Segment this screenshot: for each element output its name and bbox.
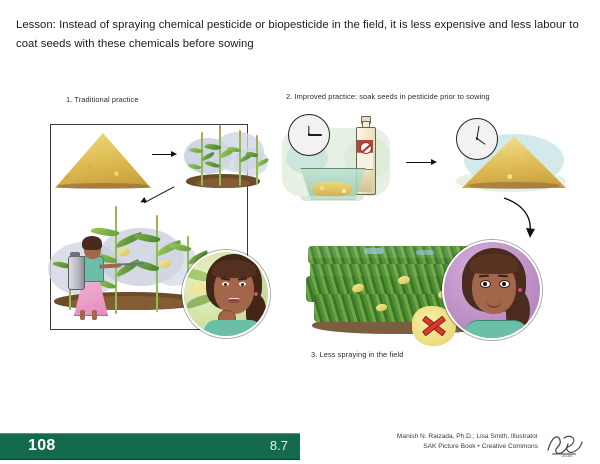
arrow-coated-to-field bbox=[500, 196, 548, 242]
panel-2-caption: 2. Improved practice: soak seeds in pest… bbox=[286, 92, 490, 101]
soaking-scene bbox=[282, 112, 402, 204]
coated-seed-pile bbox=[440, 118, 576, 204]
clock-done-icon bbox=[456, 118, 498, 160]
credits-block: Manish N. Raizada, Ph.D.; Lisa Smith, Il… bbox=[338, 432, 538, 452]
soaking-basin bbox=[296, 168, 368, 202]
happy-woman-portrait bbox=[442, 240, 542, 340]
illustrator-signature-icon: 2016 bbox=[542, 430, 592, 458]
svg-text:2016: 2016 bbox=[562, 453, 573, 458]
arrow-soak-to-coated bbox=[406, 158, 442, 168]
maize-field-traditional bbox=[178, 124, 270, 196]
lesson-text: Lesson: Instead of spraying chemical pes… bbox=[16, 16, 588, 54]
page-number: 108 bbox=[28, 437, 56, 455]
panel-3-caption: 3. Less spraying in the field bbox=[311, 350, 403, 359]
seed-pile-traditional bbox=[55, 133, 151, 188]
clock-soak-icon bbox=[288, 114, 330, 156]
panel-1-caption: 1. Traditional practice bbox=[66, 95, 139, 104]
no-spray-icon bbox=[360, 142, 372, 154]
footer-bar: 108 8.7 bbox=[0, 433, 300, 460]
credits-line-2: SAK Picture Book • Creative Commons bbox=[338, 442, 538, 452]
worried-woman-portrait bbox=[182, 250, 270, 338]
section-number: 8.7 bbox=[270, 438, 288, 453]
farmer-with-sprayer bbox=[66, 234, 128, 312]
credits-line-1: Manish N. Raizada, Ph.D.; Lisa Smith, Il… bbox=[338, 432, 538, 442]
arrow-pile-to-field bbox=[152, 150, 180, 160]
slide-canvas: Lesson: Instead of spraying chemical pes… bbox=[0, 0, 600, 464]
curved-arrow-icon bbox=[500, 196, 548, 242]
